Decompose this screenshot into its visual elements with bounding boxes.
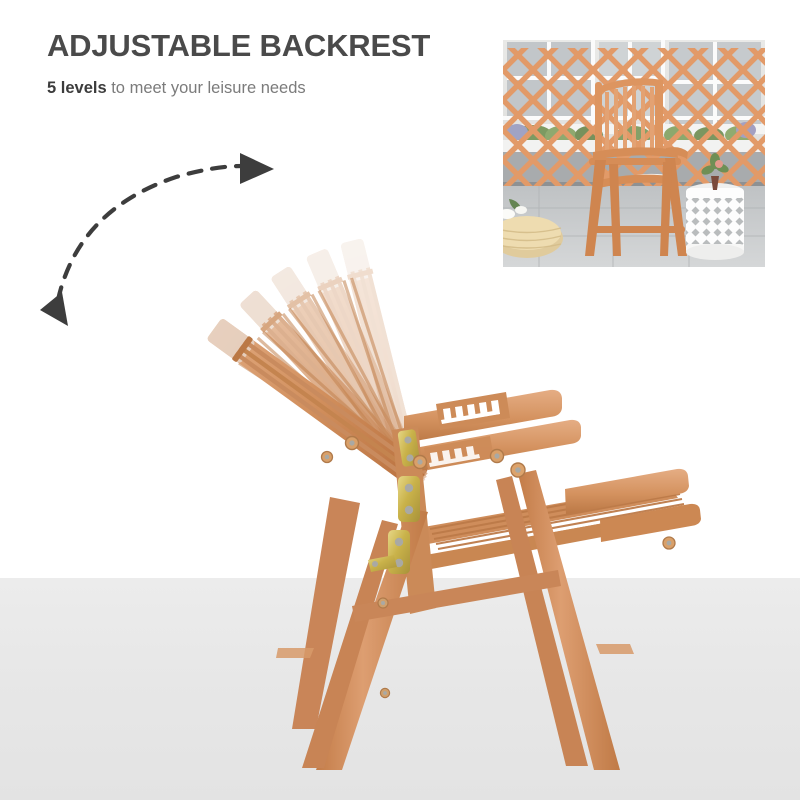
recline-range-annotation	[0, 0, 800, 800]
arrowhead-upper-right	[240, 153, 274, 184]
arrowhead-lower-left	[40, 292, 68, 326]
product-marketing-image: ADJUSTABLE BACKREST 5 levels to meet you…	[0, 0, 800, 800]
curved-dashed-arrow	[58, 166, 243, 300]
